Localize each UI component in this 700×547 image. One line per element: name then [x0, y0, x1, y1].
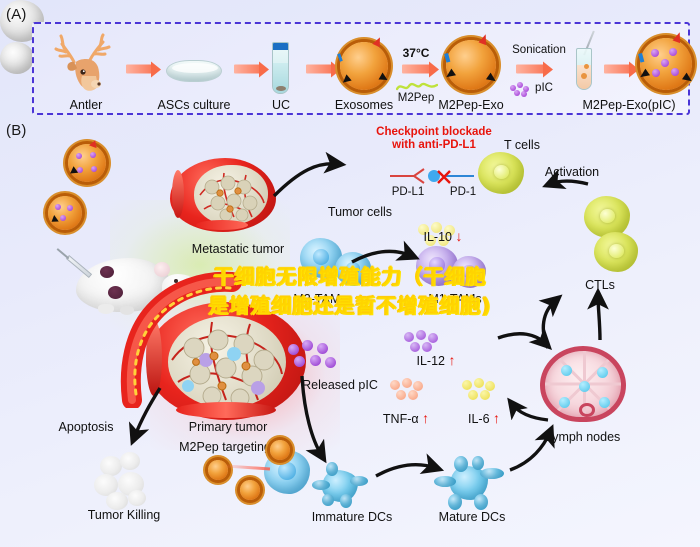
arrow-met-to-tumorcells	[274, 164, 338, 196]
arrow-ctl-feed-right	[598, 296, 600, 340]
targeting-exosome-icon	[270, 440, 290, 460]
tumor-cell-icon	[0, 42, 34, 74]
process-arrow-3	[306, 65, 332, 74]
label-apoptosis: Apoptosis	[59, 420, 114, 434]
pic-cargo-dot	[669, 48, 677, 56]
panel-b-letter: (B)	[6, 122, 27, 139]
il6-arrow: ↑	[493, 410, 500, 426]
peptide-exosome-icon	[446, 40, 496, 90]
lymph-node-icon	[540, 346, 626, 422]
il10-arrow: ↓	[455, 228, 462, 244]
label-tumor-cells: Tumor cells	[328, 205, 392, 219]
deer-antler-icon	[52, 32, 122, 94]
sonicator-icon	[570, 30, 602, 92]
arrow-ctl-feed-left	[543, 300, 556, 348]
il12-dot-cluster	[404, 330, 444, 354]
label-primary-tumor: Primary tumor	[189, 420, 267, 434]
injection-syringe-icon	[66, 255, 92, 278]
label-pd-l1: PD-L1	[392, 186, 425, 198]
membrane-marker-black-2	[379, 73, 390, 84]
pic-cargo-dot	[661, 59, 669, 67]
sonication-label: Sonication	[512, 44, 566, 56]
membrane-marker-red	[479, 33, 490, 45]
membrane-marker-blue	[445, 53, 451, 63]
label-lymph-nodes: Lymph nodes	[546, 430, 621, 444]
t-cell-icon	[478, 152, 524, 194]
il12-name: IL-12	[417, 354, 446, 368]
membrane-marker-blue	[639, 53, 645, 63]
centrifuge-tube-icon	[272, 42, 289, 94]
m1-tam-cell-icon	[452, 256, 486, 288]
pic-cargo-dot	[60, 215, 66, 221]
metastatic-tumor-icon	[170, 158, 276, 232]
tnfa-dot-cluster	[390, 378, 426, 402]
membrane-marker-black	[340, 74, 351, 85]
ctl-cell-icon	[594, 232, 638, 272]
pic-cargo-dot	[652, 69, 660, 77]
label-il10: IL-10 ↓	[424, 228, 463, 244]
label-immature-dcs: Immature DCs	[312, 510, 393, 524]
released-pic-cluster	[288, 340, 344, 374]
il6-dot-cluster	[462, 378, 498, 402]
m1-tam-cell-icon	[416, 246, 458, 286]
step-label-antler: Antler	[70, 98, 103, 112]
label-il6: IL-6 ↑	[468, 410, 500, 426]
targeting-exosome-icon	[208, 460, 228, 480]
arrow-activation	[550, 181, 588, 184]
membrane-marker-red	[89, 139, 99, 148]
tumor-spot	[100, 266, 114, 278]
process-arrow-6	[604, 65, 630, 74]
step-label-m2pep-exo: M2Pep-Exo	[438, 98, 503, 112]
membrane-marker-red	[673, 31, 684, 43]
label-metastatic-tumor: Metastatic tumor	[192, 242, 284, 256]
free-exosome-icon-2	[48, 196, 82, 230]
pic-cargo-dot	[90, 152, 96, 158]
step-label-m2pep-exo-pic: M2Pep-Exo(pIC)	[582, 98, 675, 112]
panel-a-synthesis-scheme: 37°C M2Pep Sonication pIC	[32, 22, 690, 115]
il6-name: IL-6	[468, 412, 490, 426]
pic-loaded-exosome-icon	[640, 38, 692, 90]
step-label-ascs: ASCs culture	[158, 98, 231, 112]
m2-tam-cell-icon	[335, 252, 371, 286]
mature-dc-icon	[434, 456, 506, 512]
panel-a-letter: (A)	[6, 6, 27, 23]
label-m2pep-targeting: M2Pep targeting	[179, 440, 271, 454]
free-exosome-icon-1	[68, 144, 106, 182]
label-il12: IL-12 ↑	[417, 352, 456, 368]
membrane-marker-black	[444, 69, 456, 81]
blood-vessel-icon	[120, 258, 250, 408]
process-arrow-2	[234, 65, 260, 74]
label-tumor-killing: Tumor Killing	[88, 508, 160, 522]
tnfa-name: TNF-α	[383, 412, 419, 426]
targeting-beam	[226, 464, 270, 470]
label-mature-dcs: Mature DCs	[439, 510, 506, 524]
process-arrow-1	[126, 65, 152, 74]
exosome-icon	[340, 42, 388, 90]
arrow-dc-to-lymph	[510, 432, 550, 470]
membrane-marker-black	[49, 215, 59, 225]
scientific-figure: (A) (B)	[0, 0, 700, 547]
arrow-immature-to-mature	[376, 465, 436, 476]
pic-cargo-dot	[76, 153, 82, 159]
label-tnf-alpha: TNF-α ↑	[383, 410, 429, 426]
membrane-marker-black-2	[682, 73, 694, 85]
process-arrow-5	[516, 65, 544, 74]
petri-dish-icon	[166, 60, 222, 82]
pic-cargo-dot	[77, 167, 83, 173]
membrane-marker-black-2	[486, 73, 498, 85]
pic-cargo-dot	[67, 205, 73, 211]
pic-cargo-dot	[651, 49, 659, 57]
arrow-il12-to-lymph	[498, 334, 546, 344]
label-activation: Activation	[545, 165, 599, 179]
membrane-marker-black	[638, 69, 650, 81]
pic-label: pIC	[535, 82, 553, 94]
il10-name: IL-10	[424, 230, 453, 244]
ctl-cell-icon	[584, 196, 630, 238]
label-m1-tams: M1-TAMs	[428, 292, 481, 306]
pic-cluster-icon	[510, 82, 532, 96]
m2pep-squiggle-icon	[396, 80, 438, 98]
arrow-lymph-to-il6	[512, 404, 548, 420]
step-label-uc: UC	[272, 98, 290, 112]
checkpoint-blockade-line1: Checkpoint blockade	[376, 126, 492, 139]
immature-dc-icon	[310, 462, 370, 510]
tnfa-arrow: ↑	[422, 410, 429, 426]
apoptotic-cell-icon	[90, 448, 162, 516]
label-pd-1: PD-1	[450, 186, 476, 198]
checkpoint-blockade-line2: with anti-PD-L1	[392, 139, 476, 152]
label-released-pic: Released pIC	[302, 378, 378, 392]
step-label-exosomes: Exosomes	[335, 98, 393, 112]
process-arrow-4	[402, 65, 430, 74]
pic-cargo-dot	[55, 204, 61, 210]
pic-cargo-dot	[91, 166, 97, 172]
label-ctls: CTLs	[585, 278, 615, 292]
membrane-marker-red	[372, 36, 383, 48]
temperature-label: 37°C	[403, 46, 430, 60]
il12-arrow: ↑	[448, 352, 455, 368]
targeting-exosome-icon	[240, 480, 260, 500]
pic-cargo-dot	[671, 68, 679, 76]
label-t-cells: T cells	[504, 138, 540, 152]
